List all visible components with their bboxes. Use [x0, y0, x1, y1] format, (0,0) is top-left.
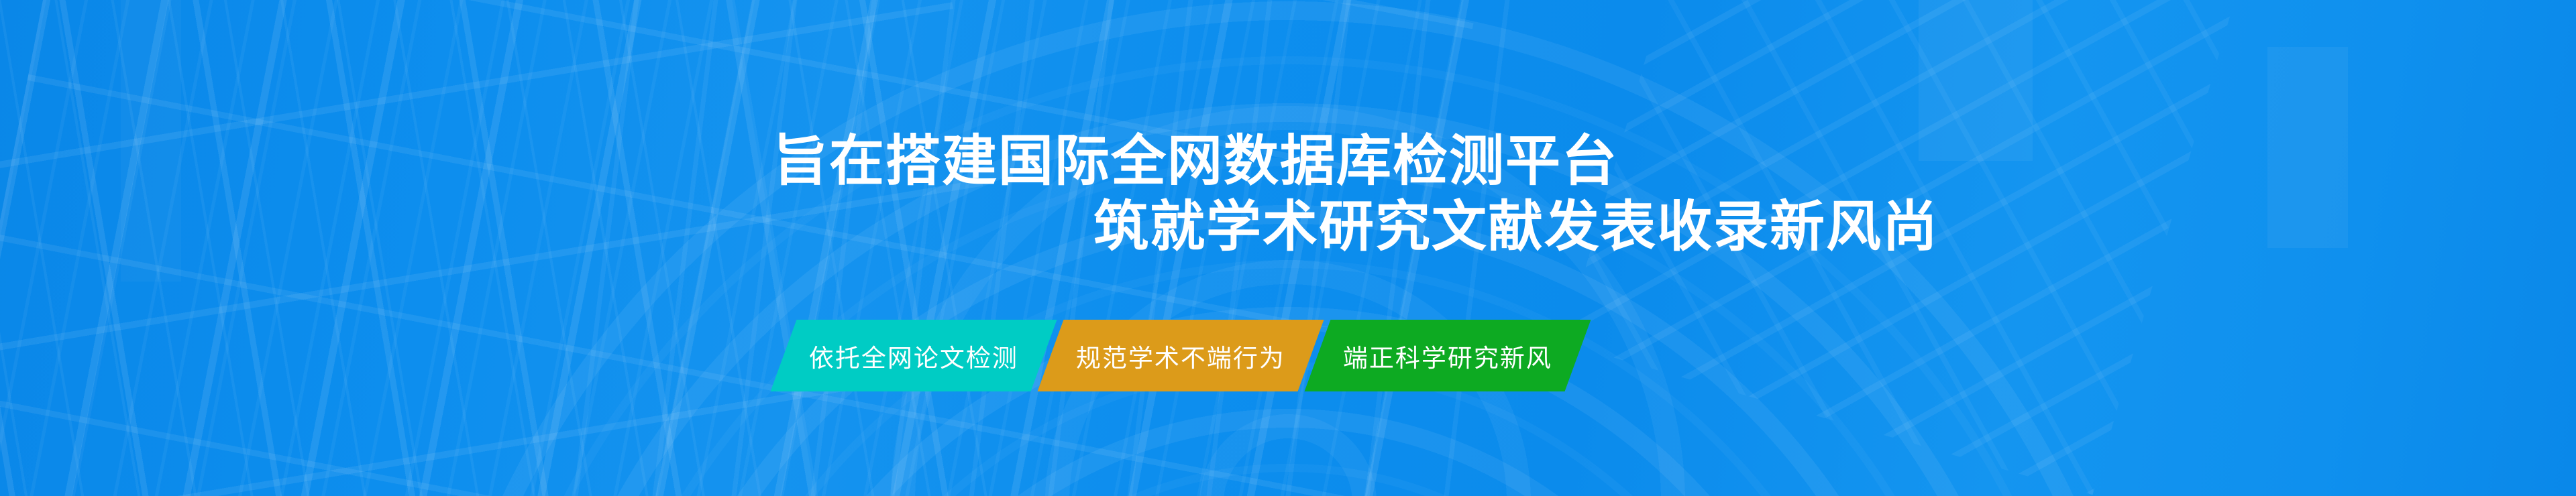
- tab-research-ethos[interactable]: 端正科学研究新风: [1305, 320, 1591, 391]
- background-block-2: [2267, 47, 2348, 248]
- tab-academic-misconduct[interactable]: 规范学术不端行为: [1038, 320, 1324, 391]
- tab-thesis-detection-label: 依托全网论文检测: [809, 338, 1018, 374]
- feature-tab-strip: 依托全网论文检测 规范学术不端行为 端正科学研究新风: [784, 320, 1578, 391]
- tab-academic-misconduct-label: 规范学术不端行为: [1076, 338, 1285, 374]
- tab-thesis-detection[interactable]: 依托全网论文检测: [771, 320, 1057, 391]
- headline-line-1: 旨在搭建国际全网数据库检测平台: [773, 134, 1618, 189]
- background-block-1: [1919, 0, 2033, 161]
- hero-banner: 旨在搭建国际全网数据库检测平台 筑就学术研究文献发表收录新风尚 依托全网论文检测…: [0, 0, 2576, 496]
- tab-research-ethos-label: 端正科学研究新风: [1343, 338, 1552, 374]
- background-block-3: [121, 0, 181, 282]
- headline-line-2: 筑就学术研究文献发表收录新风尚: [1093, 200, 1939, 255]
